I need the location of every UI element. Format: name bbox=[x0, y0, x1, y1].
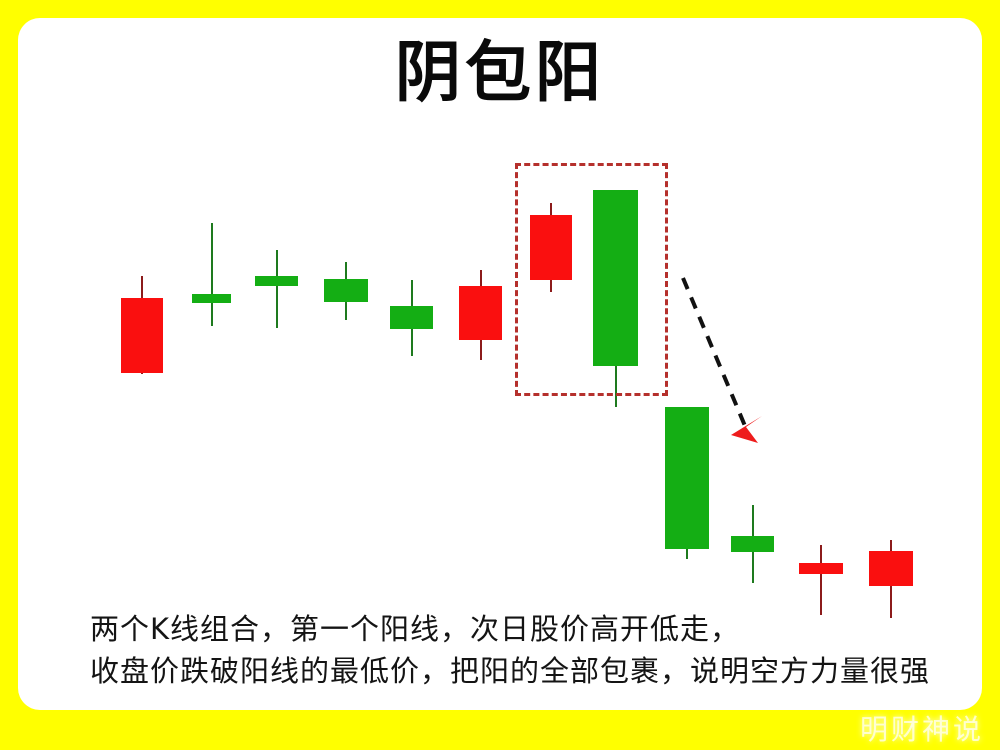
candle-body bbox=[869, 551, 913, 586]
candle-12-down bbox=[869, 540, 913, 618]
candle-body bbox=[459, 286, 502, 340]
candle-wick bbox=[276, 250, 278, 328]
candle-body bbox=[731, 536, 774, 552]
candle-body bbox=[324, 279, 368, 302]
candle-1-down bbox=[121, 276, 163, 374]
candle-body bbox=[192, 294, 231, 303]
candle-body bbox=[390, 306, 433, 329]
candle-4-up bbox=[324, 262, 368, 320]
pattern-highlight-box bbox=[515, 163, 668, 396]
candle-body bbox=[255, 276, 298, 286]
candle-body bbox=[121, 298, 163, 373]
slide-root: 阴包阳 两个K线组合，第一个阳线，次日股价高开低走， 收盘价跌破阳线的最低价，把… bbox=[0, 0, 1000, 750]
candle-wick bbox=[820, 545, 822, 615]
white-panel: 阴包阳 两个K线组合，第一个阳线，次日股价高开低走， 收盘价跌破阳线的最低价，把… bbox=[18, 18, 982, 710]
candle-2-up bbox=[192, 223, 231, 326]
candle-3-up bbox=[255, 250, 298, 328]
candlestick-chart bbox=[18, 18, 982, 710]
candle-11-down bbox=[799, 545, 843, 615]
candle-6-down bbox=[459, 270, 502, 360]
candle-body bbox=[799, 563, 843, 574]
candle-9-up bbox=[665, 407, 709, 559]
caption-line-2: 收盘价跌破阳线的最低价，把阳的全部包裹，说明空方力量很强 bbox=[90, 650, 970, 692]
caption-block: 两个K线组合，第一个阳线，次日股价高开低走， 收盘价跌破阳线的最低价，把阳的全部… bbox=[90, 608, 970, 692]
caption-line-1: 两个K线组合，第一个阳线，次日股价高开低走， bbox=[90, 608, 970, 650]
watermark-text: 明财神说 bbox=[860, 708, 984, 748]
candle-10-up bbox=[731, 505, 774, 583]
candle-5-up bbox=[390, 280, 433, 356]
candle-body bbox=[665, 407, 709, 549]
candle-wick bbox=[211, 223, 213, 326]
